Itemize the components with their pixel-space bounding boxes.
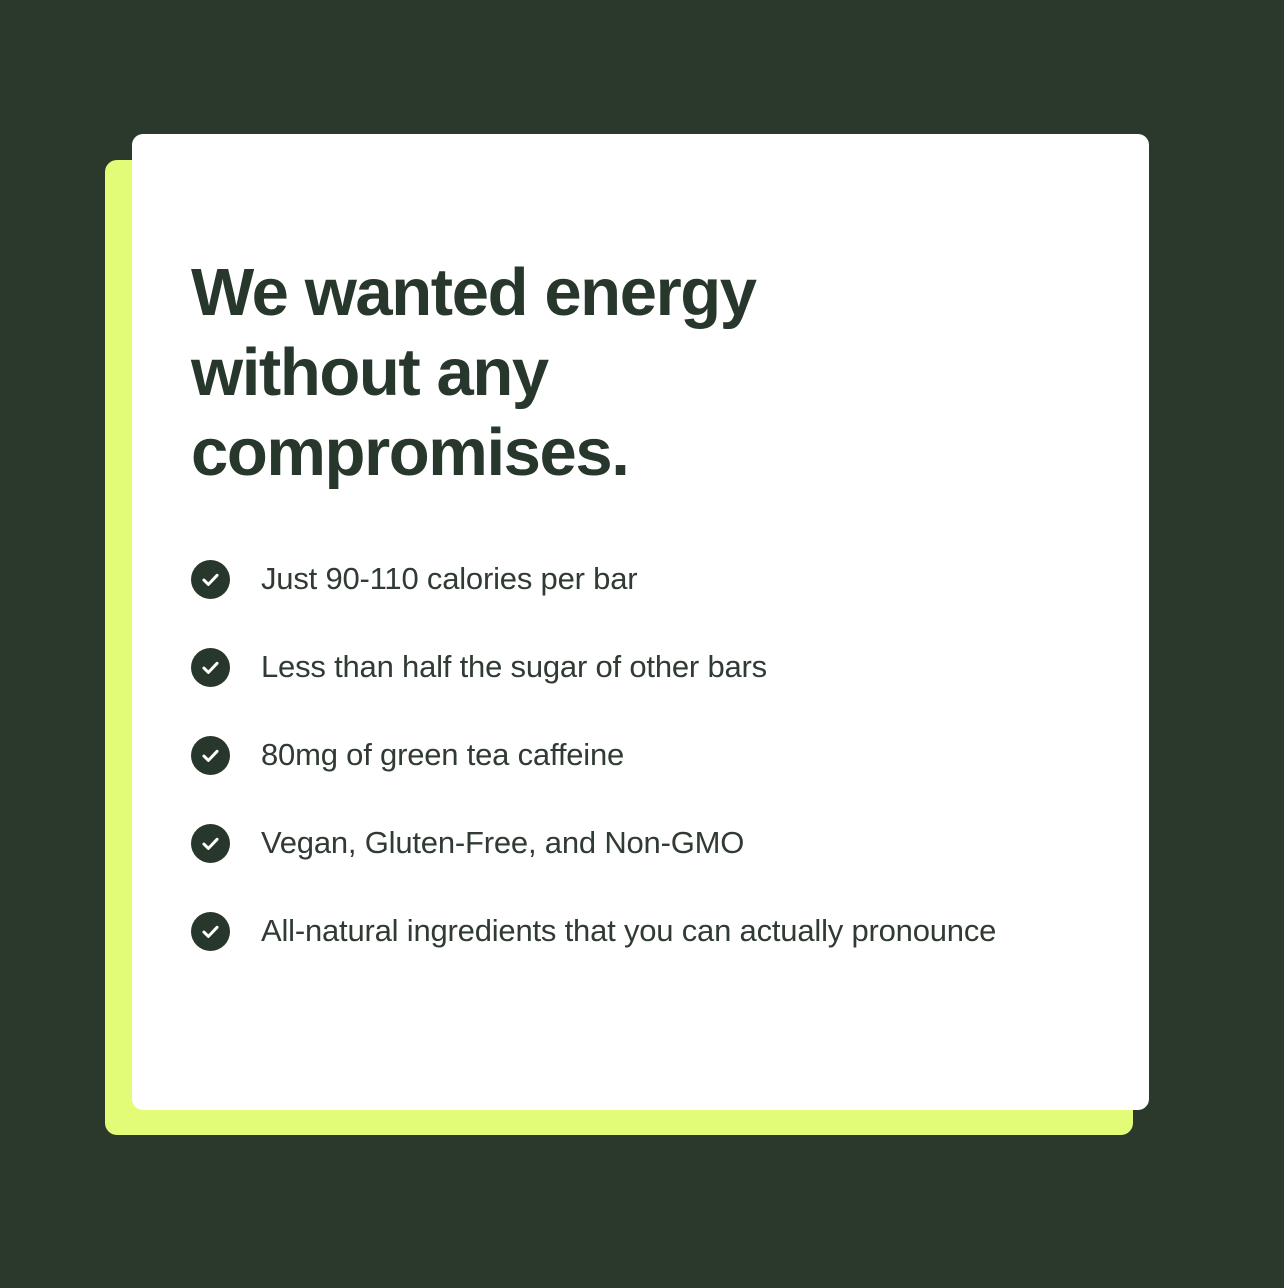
benefit-label: Just 90-110 calories per bar [261, 555, 637, 603]
list-item: 80mg of green tea caffeine [191, 731, 1109, 779]
check-circle-icon [191, 736, 230, 775]
benefit-label: Vegan, Gluten-Free, and Non-GMO [261, 819, 744, 867]
list-item: Less than half the sugar of other bars [191, 643, 1109, 691]
check-circle-icon [191, 824, 230, 863]
card-content: We wanted energy without any compromises… [191, 253, 1109, 955]
benefits-list: Just 90-110 calories per bar Less than h… [191, 555, 1109, 955]
list-item: All-natural ingredients that you can act… [191, 907, 1109, 955]
benefit-label: 80mg of green tea caffeine [261, 731, 624, 779]
page-stage: We wanted energy without any compromises… [0, 0, 1284, 1288]
list-item: Vegan, Gluten-Free, and Non-GMO [191, 819, 1109, 867]
benefits-card: We wanted energy without any compromises… [132, 134, 1149, 1110]
benefit-label: Less than half the sugar of other bars [261, 643, 767, 691]
check-circle-icon [191, 648, 230, 687]
check-circle-icon [191, 560, 230, 599]
list-item: Just 90-110 calories per bar [191, 555, 1109, 603]
check-circle-icon [191, 912, 230, 951]
page-title: We wanted energy without any compromises… [191, 253, 891, 493]
benefit-label: All-natural ingredients that you can act… [261, 907, 996, 955]
